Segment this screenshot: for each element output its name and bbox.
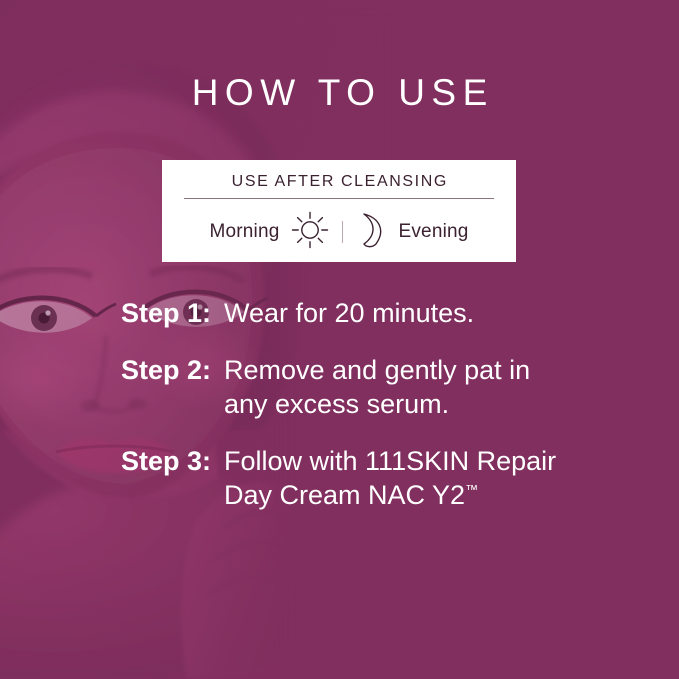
time-separator [342, 221, 343, 243]
step-line: any excess serum. [224, 387, 530, 422]
usage-times-row: Morning [162, 212, 516, 252]
step-line-text: Day Cream NAC Y2 [224, 480, 465, 510]
step-text: Follow with 111SKIN Repair Day Cream NAC… [224, 444, 556, 513]
use-after-cleansing-card: USE AFTER CLEANSING Morning [162, 160, 516, 262]
card-title: USE AFTER CLEANSING [162, 173, 516, 191]
evening-label: Evening [398, 221, 468, 243]
trademark-symbol: ™ [465, 482, 479, 497]
page-title: HOW TO USE [0, 74, 679, 111]
step-text: Remove and gently pat in any excess seru… [224, 353, 530, 422]
sun-icon [290, 210, 330, 255]
morning-label: Morning [209, 221, 279, 243]
step-line: Follow with 111SKIN Repair [224, 444, 556, 479]
step-line: Remove and gently pat in [224, 353, 530, 388]
step-text: Wear for 20 minutes. [224, 296, 474, 331]
steps-list: Step 1: Wear for 20 minutes. Step 2: Rem… [0, 296, 679, 535]
step-line: Wear for 20 minutes. [224, 296, 474, 331]
step-item: Step 3: Follow with 111SKIN Repair Day C… [0, 444, 679, 513]
how-to-use-panel: HOW TO USE USE AFTER CLEANSING Morning [0, 0, 679, 679]
step-item: Step 2: Remove and gently pat in any exc… [0, 353, 679, 422]
step-label: Step 2: [107, 353, 211, 388]
card-divider [184, 198, 494, 199]
step-label: Step 3: [107, 444, 211, 479]
step-label: Step 1: [107, 296, 211, 331]
step-line: Day Cream NAC Y2™ [224, 478, 556, 513]
step-item: Step 1: Wear for 20 minutes. [0, 296, 679, 331]
moon-icon [355, 210, 387, 255]
